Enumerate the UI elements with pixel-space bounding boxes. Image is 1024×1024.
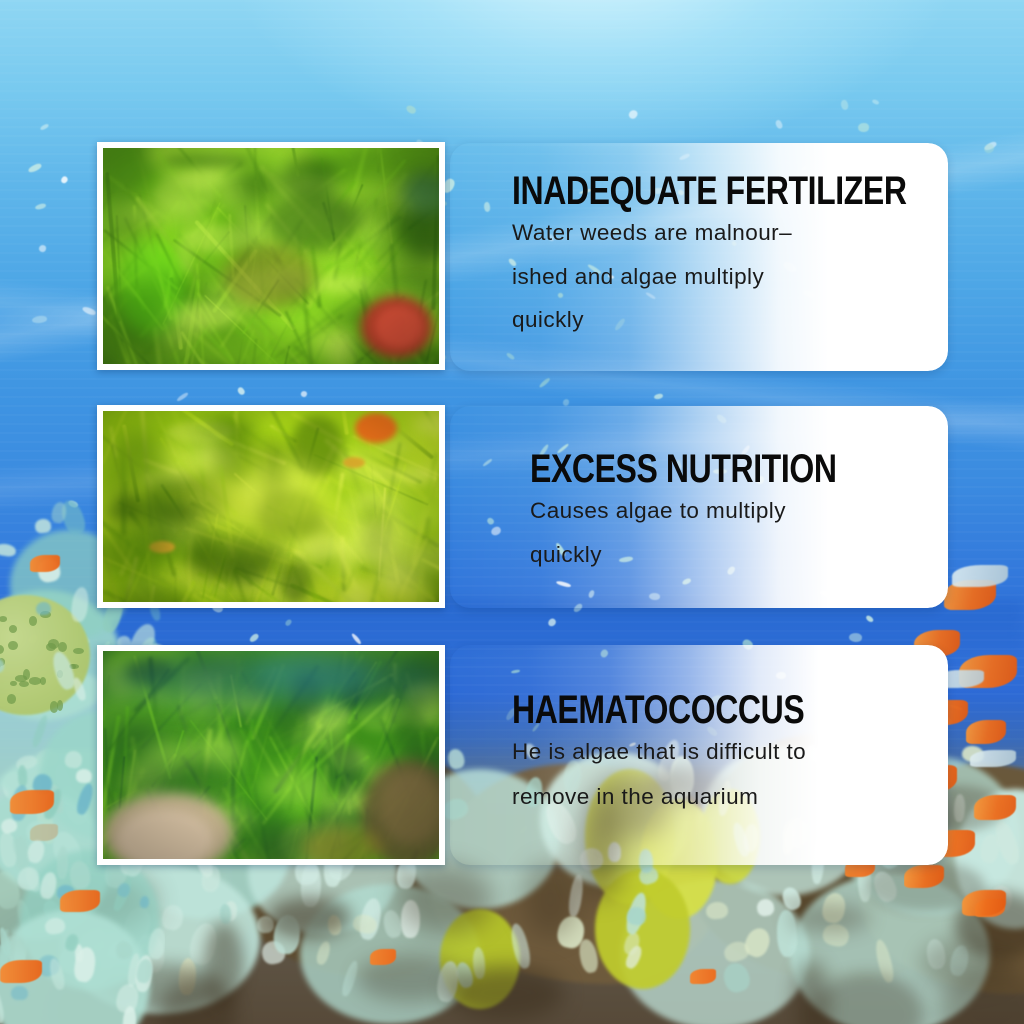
text-card-2[interactable]: EXCESS NUTRITION Causes algae to multipl…: [450, 406, 948, 608]
panel-3-body-line-1: He is algae that is difficult to: [512, 741, 948, 764]
panel-2-body-line-1: Causes algae to multiply: [530, 500, 948, 523]
text-card-3[interactable]: HAEMATOCOCCUS He is algae that is diffic…: [450, 645, 948, 865]
photo-frame-1[interactable]: [97, 142, 445, 370]
photo-algae-mat: [103, 148, 439, 364]
poster-canvas: INADEQUATE FERTILIZER Water weeds are ma…: [0, 0, 1024, 1024]
panel-2-heading: EXCESS NUTRITION: [530, 449, 864, 489]
photo-hair-algae: [103, 411, 439, 602]
panel-1-body-line-3: quickly: [512, 309, 948, 332]
photo-filament-algae: [103, 651, 439, 859]
card-content-2: EXCESS NUTRITION Causes algae to multipl…: [450, 406, 948, 566]
panel-3-heading: HAEMATOCOCCUS: [512, 690, 861, 730]
panel-3-body-line-2: remove in the aquarium: [512, 786, 948, 809]
panel-1-body-line-1: Water weeds are malnour–: [512, 222, 948, 245]
panel-2-body-line-2: quickly: [530, 544, 948, 567]
panel-1-body-line-2: ished and algae multiply: [512, 266, 948, 289]
photo-frame-3[interactable]: [97, 645, 445, 865]
card-content-3: HAEMATOCOCCUS He is algae that is diffic…: [450, 645, 948, 808]
photo-frame-2[interactable]: [97, 405, 445, 608]
text-card-1[interactable]: INADEQUATE FERTILIZER Water weeds are ma…: [450, 143, 948, 371]
panel-1-heading: INADEQUATE FERTILIZER: [512, 171, 861, 211]
card-content-1: INADEQUATE FERTILIZER Water weeds are ma…: [450, 143, 948, 332]
